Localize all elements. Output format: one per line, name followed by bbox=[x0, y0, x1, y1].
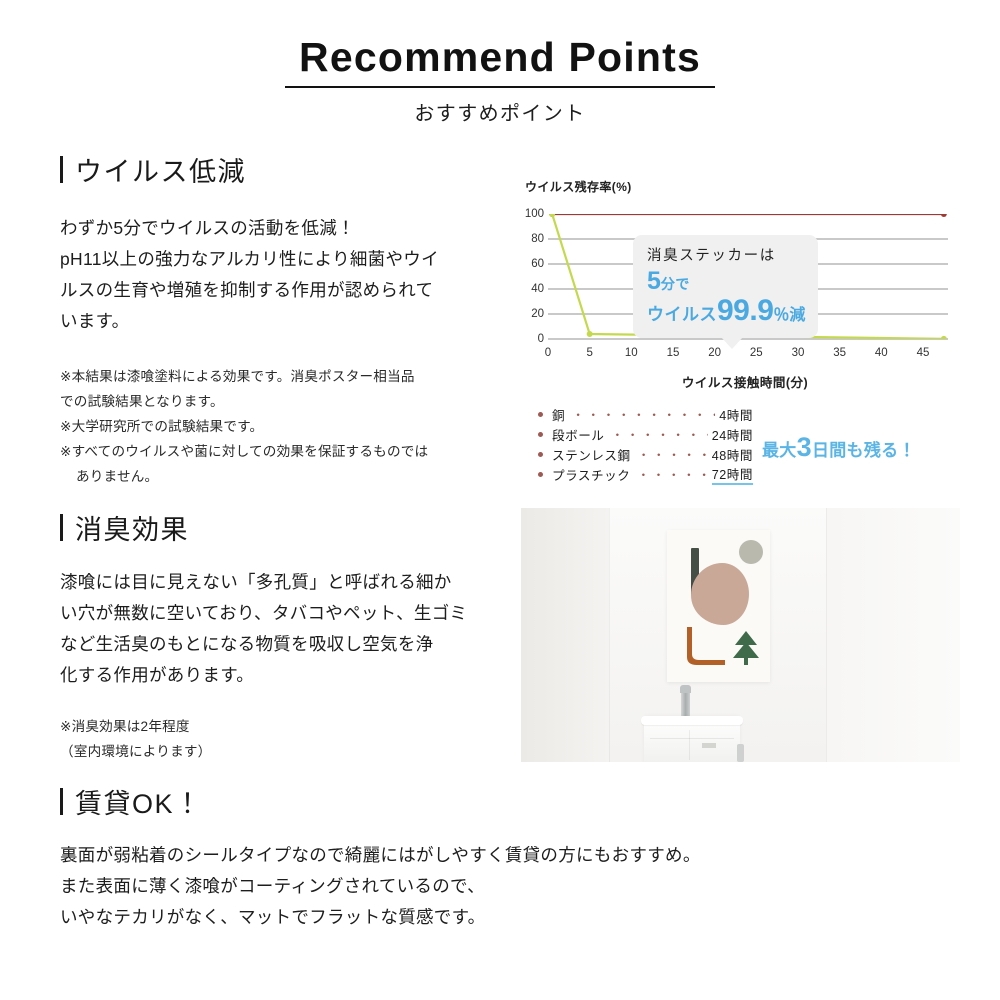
note-line: ※すべてのウイルスや菌に対しての効果を保証するものでは bbox=[60, 439, 520, 464]
y-tick-label: 0 bbox=[504, 333, 544, 345]
body-line: ルスの生育や増殖を抑制する作用が認められて bbox=[60, 275, 520, 306]
x-tick-label: 15 bbox=[658, 347, 688, 359]
x-tick-label: 40 bbox=[866, 347, 896, 359]
section-heading-virus: ウイルス低減 bbox=[60, 150, 520, 189]
note-line: ※本結果は漆喰塗料による効果です。消臭ポスター相当品 bbox=[60, 364, 520, 389]
section-deodorizing-effect: 消臭効果 漆喰には目に見えない「多孔質」と呼ばれる細か い穴が無数に空いており、… bbox=[60, 508, 515, 764]
max-days-suffix: 日間も残る！ bbox=[812, 441, 916, 460]
body-line: pH11以上の強力なアルカリ性により細菌やウイ bbox=[60, 244, 520, 275]
max-days-number: 3 bbox=[797, 432, 812, 462]
legend-leader-dots: ・・・・・ bbox=[637, 466, 707, 483]
legend-row: ステンレス鋼 ・・・・・ 48時間 bbox=[538, 444, 753, 464]
legend-row: 段ボール ・・・・・・・・ 24時間 bbox=[538, 424, 753, 444]
callout-percent-number: 99.9 bbox=[717, 294, 773, 327]
legend-label: 銅 bbox=[552, 405, 565, 424]
x-tick-label: 5 bbox=[575, 347, 605, 359]
y-tick-label: 100 bbox=[504, 208, 544, 220]
legend-label: 段ボール bbox=[552, 425, 604, 444]
toilet-tank bbox=[644, 716, 740, 762]
section-heading-label: ウイルス低減 bbox=[75, 150, 246, 189]
virus-survival-chart: ウイルス残存率(%) 0 20 40 60 80 100 0 5 10 15 2… bbox=[520, 178, 970, 393]
x-tick-label: 10 bbox=[616, 347, 646, 359]
toilet-tank-seam bbox=[650, 738, 734, 739]
legend-bullet-icon bbox=[538, 432, 543, 437]
x-tick-label: 20 bbox=[700, 347, 730, 359]
y-tick-label: 20 bbox=[504, 308, 544, 320]
wall-seam bbox=[609, 508, 610, 762]
note-line: （室内環境によります） bbox=[60, 739, 515, 764]
y-tick-label: 80 bbox=[504, 233, 544, 245]
x-tick-label: 30 bbox=[783, 347, 813, 359]
callout-percent-sign: ％ bbox=[773, 307, 789, 324]
note-line: ありません。 bbox=[60, 464, 520, 489]
callout-line-3: ウイルス99.9％減 bbox=[647, 295, 808, 327]
body-line: また表面に薄く漆喰がコーティングされているので、 bbox=[60, 871, 820, 902]
section-heading-rental: 賃貸OK！ bbox=[60, 782, 820, 821]
chart-y-axis-label: ウイルス残存率(%) bbox=[525, 178, 632, 195]
x-tick-label: 35 bbox=[825, 347, 855, 359]
section-heading-deodorize: 消臭効果 bbox=[60, 508, 515, 547]
legend-value: 48時間 bbox=[712, 445, 753, 464]
toilet-tank-divider bbox=[689, 730, 690, 760]
toilet-supply-pipe bbox=[737, 744, 744, 762]
poster-blob-shape bbox=[691, 563, 749, 625]
callout-line-2: 5分で bbox=[647, 268, 808, 294]
section-rental-ok: 賃貸OK！ 裏面が弱粘着のシールタイプなので綺麗にはがしやすく賃貸の方にもおすす… bbox=[60, 782, 820, 933]
body-line: いやなテカリがなく、マットでフラットな質感です。 bbox=[60, 902, 820, 933]
note-line: ※大学研究所での試験結果です。 bbox=[60, 414, 520, 439]
bathroom-wall-photo bbox=[521, 508, 960, 762]
body-line: 漆喰には目に見えない「多孔質」と呼ばれる細か bbox=[60, 567, 515, 598]
body-line: います。 bbox=[60, 306, 520, 337]
legend-leader-dots: ・・・・・ bbox=[638, 446, 708, 463]
body-line: わずか5分でウイルスの活動を低減！ bbox=[60, 213, 520, 244]
note-line: ※消臭効果は2年程度 bbox=[60, 714, 515, 739]
legend-bullet-icon bbox=[538, 472, 543, 477]
legend-label: プラスチック bbox=[552, 465, 630, 484]
chart-x-axis-label: ウイルス接触時間(分) bbox=[520, 372, 970, 391]
y-tick-label: 40 bbox=[504, 283, 544, 295]
note-line: での試験結果となります。 bbox=[60, 389, 520, 414]
callout-reduce-word: 減 bbox=[789, 307, 805, 324]
section-body-virus: わずか5分でウイルスの活動を低減！ pH11以上の強力なアルカリ性により細菌やウ… bbox=[60, 213, 520, 338]
y-tick-label: 60 bbox=[504, 258, 544, 270]
section-heading-label: 賃貸OK！ bbox=[75, 782, 203, 821]
body-line: い穴が無数に空いており、タバコやペット、生ゴミ bbox=[60, 598, 515, 629]
legend-leader-dots: ・・・・・・・・ bbox=[611, 426, 707, 443]
page-header: Recommend Points おすすめポイント bbox=[0, 34, 1000, 126]
legend-leader-dots: ・・・・・・・・・・・ bbox=[572, 406, 715, 423]
wall-right-panel bbox=[826, 508, 960, 762]
wall-seam bbox=[826, 508, 827, 762]
legend-row: 銅 ・・・・・・・・・・・ 4時間 bbox=[538, 404, 753, 424]
max-days-callout: 最大3日間も残る！ bbox=[762, 432, 916, 463]
legend-bullet-icon bbox=[538, 452, 543, 457]
legend-value: 24時間 bbox=[712, 425, 753, 444]
page-subtitle: おすすめポイント bbox=[0, 97, 1000, 126]
poster-hook-shape bbox=[685, 627, 725, 665]
section-heading-label: 消臭効果 bbox=[75, 508, 189, 547]
callout-minutes-suffix: で bbox=[675, 276, 690, 292]
wall-left-panel bbox=[521, 508, 609, 762]
body-line: 化する作用があります。 bbox=[60, 660, 515, 691]
section-body-rental: 裏面が弱粘着のシールタイプなので綺麗にはがしやすく賃貸の方にもおすすめ。 また表… bbox=[60, 840, 820, 933]
poster-tree-shape bbox=[733, 631, 759, 665]
section-virus-reduction: ウイルス低減 わずか5分でウイルスの活動を低減！ pH11以上の強力なアルカリ性… bbox=[60, 150, 520, 489]
virus-survival-legend: 銅 ・・・・・・・・・・・ 4時間 段ボール ・・・・・・・・ 24時間 ステン… bbox=[538, 404, 753, 484]
max-days-prefix: 最大 bbox=[762, 441, 797, 460]
x-tick-label: 45 bbox=[908, 347, 938, 359]
legend-label: ステンレス鋼 bbox=[552, 445, 631, 464]
section-body-deodorize: 漆喰には目に見えない「多孔質」と呼ばれる細か い穴が無数に空いており、タバコやペ… bbox=[60, 567, 515, 692]
callout-line-1: 消臭ステッカーは bbox=[647, 244, 808, 265]
x-tick-label: 25 bbox=[741, 347, 771, 359]
legend-value-highlighted: 72時間 bbox=[712, 464, 753, 485]
faucet bbox=[681, 691, 690, 719]
body-line: など生活臭のもとになる物質を吸収し空気を浄 bbox=[60, 629, 515, 660]
poster-circle-shape bbox=[739, 540, 763, 564]
abstract-art-poster bbox=[667, 530, 770, 682]
toilet-brand-logo bbox=[702, 743, 716, 748]
section-notes-virus: ※本結果は漆喰塗料による効果です。消臭ポスター相当品 での試験結果となります。 … bbox=[60, 364, 520, 490]
faucet-handle bbox=[680, 685, 691, 693]
callout-virus-word: ウイルス bbox=[647, 305, 717, 324]
legend-value: 4時間 bbox=[719, 405, 753, 424]
heading-bar-icon bbox=[60, 788, 63, 815]
body-line: 裏面が弱粘着のシールタイプなので綺麗にはがしやすく賃貸の方にもおすすめ。 bbox=[60, 840, 820, 871]
heading-bar-icon bbox=[60, 156, 63, 183]
section-notes-deodorize: ※消臭効果は2年程度 （室内環境によります） bbox=[60, 714, 515, 764]
chart-callout-bubble: 消臭ステッカーは 5分で ウイルス99.9％減 bbox=[633, 235, 818, 338]
page-title: Recommend Points bbox=[285, 34, 715, 88]
heading-bar-icon bbox=[60, 514, 63, 541]
legend-bullet-icon bbox=[538, 412, 543, 417]
callout-minutes-unit: 分 bbox=[661, 276, 676, 292]
toilet-tank-lid bbox=[641, 716, 743, 725]
callout-minutes-number: 5 bbox=[647, 267, 661, 295]
x-tick-label: 0 bbox=[533, 347, 563, 359]
legend-row: プラスチック ・・・・・ 72時間 bbox=[538, 464, 753, 484]
